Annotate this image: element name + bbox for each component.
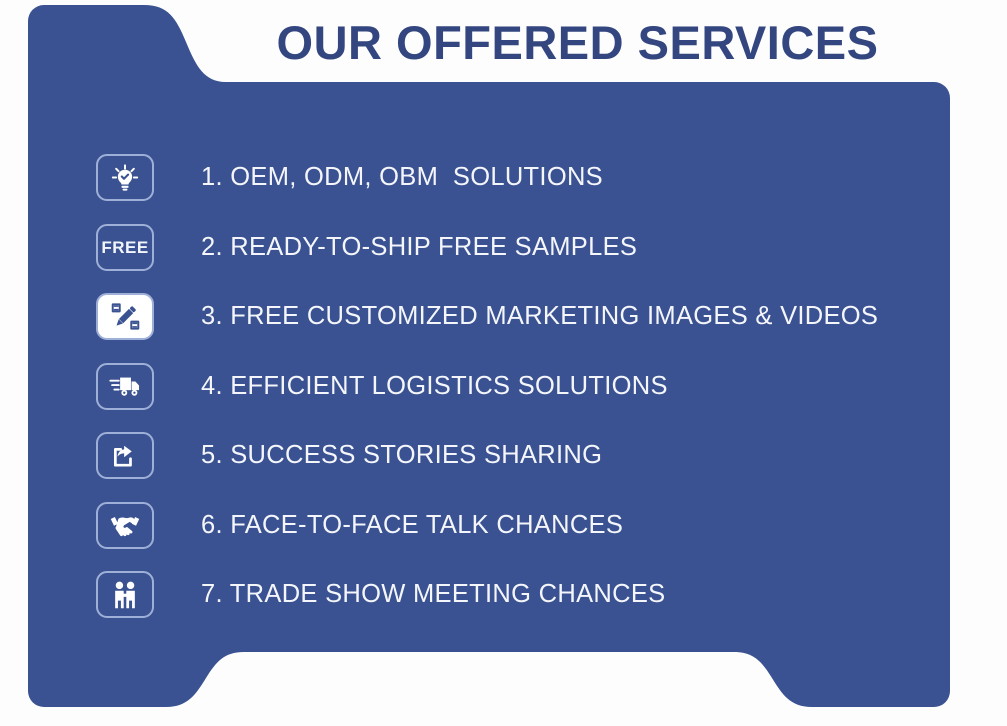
list-item[interactable]: 5. SUCCESS STORIES SHARING: [96, 421, 956, 491]
list-item-label: 4. EFFICIENT LOGISTICS SOLUTIONS: [201, 374, 668, 400]
share-arrow-icon: [96, 432, 154, 479]
list-item-label: 6. FACE-TO-FACE TALK CHANCES: [201, 513, 623, 539]
handshake-icon: [96, 502, 154, 549]
list-item-label: 3. FREE CUSTOMIZED MARKETING IMAGES & VI…: [201, 304, 878, 330]
list-item[interactable]: 7. TRADE SHOW MEETING CHANCES: [96, 560, 956, 630]
list-item-label: 7. TRADE SHOW MEETING CHANCES: [201, 582, 665, 608]
services-list: 1. OEM, ODM, OBM SOLUTIONS FREE 2. READY…: [96, 143, 956, 630]
list-item[interactable]: 3. FREE CUSTOMIZED MARKETING IMAGES & VI…: [96, 282, 956, 352]
free-badge-label: FREE: [101, 239, 148, 256]
list-item[interactable]: 1. OEM, ODM, OBM SOLUTIONS: [96, 143, 956, 213]
services-card: OUR OFFERED SERVICES: [0, 0, 1007, 726]
list-item[interactable]: 6. FACE-TO-FACE TALK CHANCES: [96, 491, 956, 561]
two-people-icon: [96, 571, 154, 618]
list-item-label: 2. READY-TO-SHIP FREE SAMPLES: [201, 235, 637, 261]
pencil-ruler-design-icon: [96, 293, 154, 340]
free-badge-icon: FREE: [96, 224, 154, 271]
list-item[interactable]: 4. EFFICIENT LOGISTICS SOLUTIONS: [96, 352, 956, 422]
list-item[interactable]: FREE 2. READY-TO-SHIP FREE SAMPLES: [96, 213, 956, 283]
list-item-label: 5. SUCCESS STORIES SHARING: [201, 443, 602, 469]
delivery-truck-icon: [96, 363, 154, 410]
page-title: OUR OFFERED SERVICES: [205, 8, 950, 76]
lightbulb-check-icon: [96, 154, 154, 201]
list-item-label: 1. OEM, ODM, OBM SOLUTIONS: [201, 165, 603, 191]
